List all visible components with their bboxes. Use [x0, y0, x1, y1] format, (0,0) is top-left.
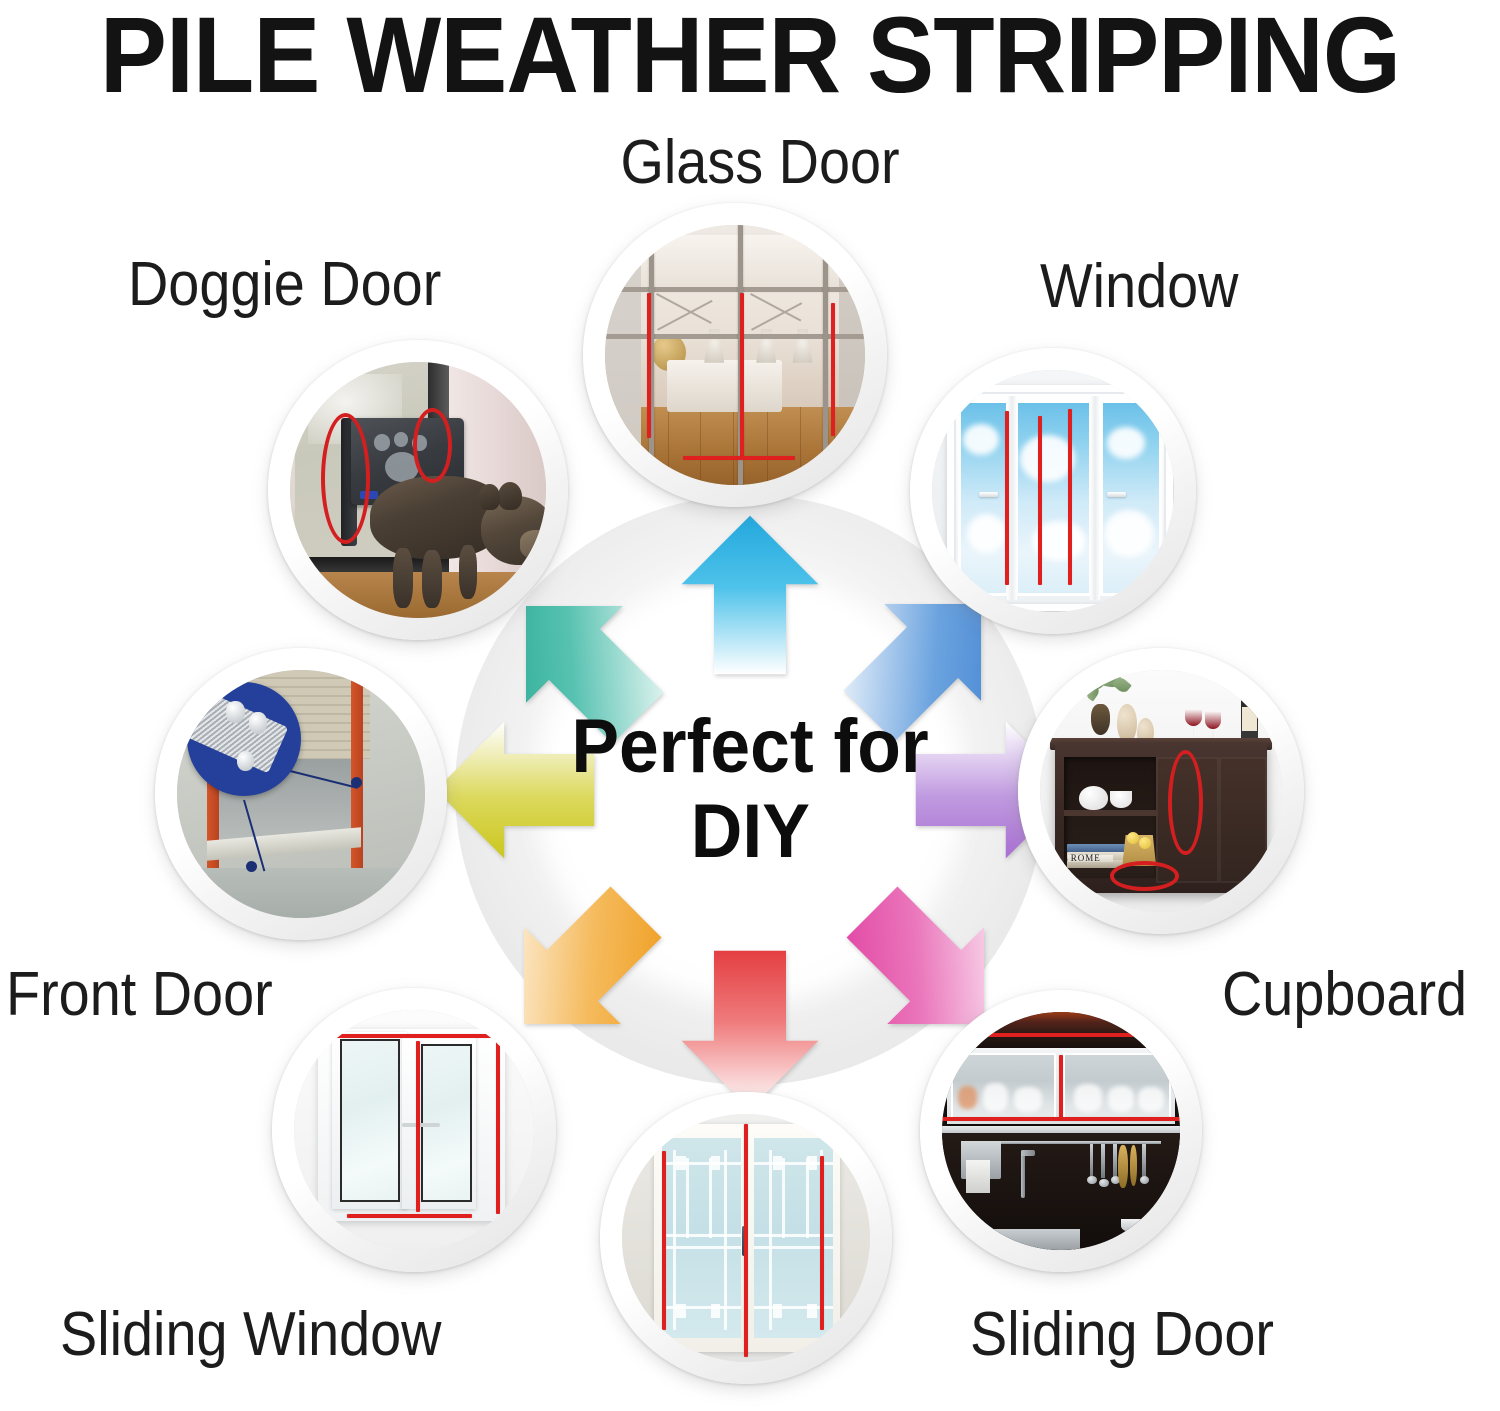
annotation-line: [662, 1151, 666, 1330]
circle-photo: [942, 1012, 1180, 1250]
annotation-ellipse: [413, 408, 452, 483]
annotation-line: [963, 1033, 1153, 1037]
annotation-line: [347, 1214, 472, 1218]
annotation-line: [496, 1041, 500, 1214]
annotation-line: [820, 1156, 824, 1330]
circle-photo: [605, 225, 865, 485]
annotation-ellipse: [1168, 750, 1203, 855]
annotation-line: [647, 293, 651, 439]
photo-glass-door[interactable]: [583, 203, 887, 507]
annotation-line: [744, 1124, 748, 1357]
photo-sliding-door[interactable]: [920, 990, 1202, 1272]
photo-doggie-door[interactable]: [268, 340, 568, 640]
photo-window[interactable]: [910, 348, 1196, 634]
label-sliding-window: Sliding Window: [60, 1300, 441, 1370]
circle-photo: [177, 670, 425, 918]
photo-patio-door[interactable]: [600, 1092, 892, 1384]
circle-photo: [622, 1114, 870, 1362]
page-title: PILE WEATHER STRIPPING: [53, 0, 1448, 114]
label-window: Window: [1040, 252, 1238, 322]
label-sliding-door: Sliding Door: [970, 1300, 1274, 1370]
magnifier-callout: [187, 682, 301, 796]
annotation-line: [1068, 409, 1072, 586]
label-doggie-door: Doggie Door: [128, 250, 441, 320]
infographic-page: PILE WEATHER STRIPPING: [0, 0, 1500, 1411]
circle-photo: [932, 370, 1174, 612]
annotation-line: [740, 293, 744, 459]
annotation-line: [831, 303, 835, 436]
label-front-door: Front Door: [6, 960, 273, 1030]
photo-sliding-window[interactable]: [272, 988, 556, 1272]
circle-photo: ROME: [1040, 670, 1282, 912]
photo-cupboard[interactable]: ROME: [1018, 648, 1304, 934]
annotation-line: [1059, 1055, 1063, 1119]
annotation-line: [1038, 416, 1042, 585]
annotation-line: [332, 1034, 495, 1038]
label-glass-door: Glass Door: [621, 128, 900, 198]
annotation-ellipse: [1110, 861, 1179, 891]
annotation-line: [416, 1041, 420, 1211]
annotation-line: [683, 456, 795, 460]
book-title: ROME: [1068, 855, 1113, 862]
callout-dot: [351, 777, 362, 788]
annotation-line: [1005, 411, 1009, 585]
circle-photo: [294, 1010, 534, 1250]
label-cupboard: Cupboard: [1222, 960, 1467, 1030]
photo-front-door[interactable]: [155, 648, 447, 940]
circle-photo: [290, 362, 546, 618]
annotation-ellipse: [321, 413, 370, 544]
